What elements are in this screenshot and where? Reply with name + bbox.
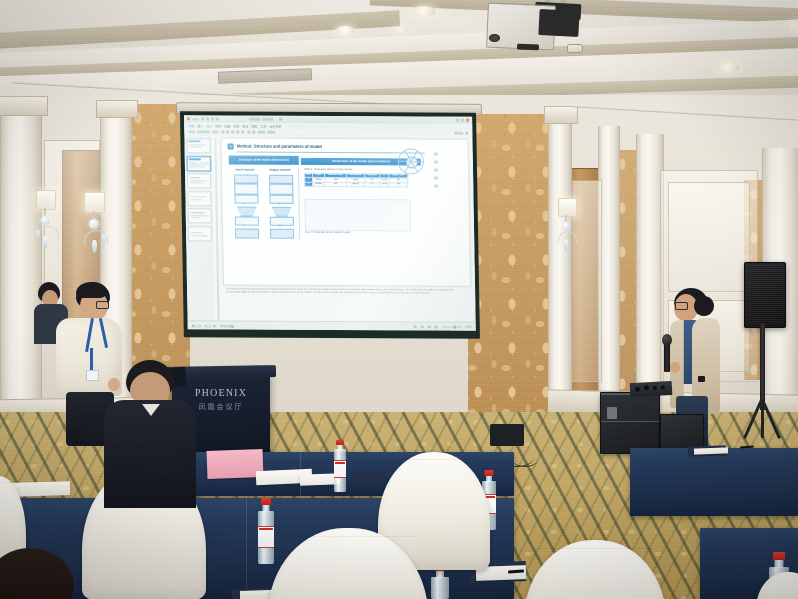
zoom-slider[interactable]: [442, 326, 462, 327]
case-latch: [607, 407, 617, 419]
pa-speaker: [744, 262, 786, 328]
wall-panel: [668, 182, 750, 292]
chair[interactable]: [268, 528, 428, 599]
sorter-view-icon[interactable]: [421, 325, 424, 328]
glasses-icon: [96, 301, 109, 309]
vertical-ruler: [214, 137, 219, 319]
presentation-app[interactable]: WPS 开始 插入 设计 切换: [184, 115, 476, 330]
text-color-icon[interactable]: [236, 131, 239, 134]
wall-sconce-center: [78, 192, 112, 292]
slide-thumbnail[interactable]: [187, 191, 211, 206]
flow-node: [234, 175, 258, 184]
slide-thumbnail[interactable]: [187, 173, 211, 188]
document-tab[interactable]: [262, 118, 273, 121]
radial-diagram: [398, 148, 424, 174]
wall-sconce-left: [34, 190, 66, 286]
wall-sconce-right: [554, 198, 584, 290]
table-cell: 1e-3: [380, 182, 389, 186]
ribbon-tab-8[interactable]: 工具: [260, 123, 266, 128]
align-icon[interactable]: [242, 131, 245, 134]
pilaster-capital: [544, 106, 578, 124]
redo-icon[interactable]: [211, 117, 214, 120]
slide-thumbnail-selected[interactable]: [187, 156, 211, 171]
flow-node: [234, 184, 258, 195]
ribbon-tab-9[interactable]: 会员专享: [269, 123, 281, 128]
flow-column-label-right: Output module: [264, 168, 296, 172]
downlight-icon: [336, 26, 355, 35]
numbering-icon[interactable]: [252, 131, 255, 134]
flow-arrow-icon: [278, 225, 282, 227]
flow-node: [269, 184, 293, 195]
underline-icon[interactable]: [231, 131, 234, 134]
reading-view-icon[interactable]: [428, 325, 431, 328]
downlight-icon: [786, 22, 798, 31]
ribbon-tab-0[interactable]: 开始: [188, 123, 194, 128]
app-menu-label[interactable]: WPS: [192, 117, 199, 121]
undo-icon[interactable]: [206, 117, 209, 120]
side-table-right: [630, 448, 798, 516]
figure-caption: Fig. 2. Schematic of the coupled model: [305, 231, 350, 234]
slide-counter: 第 3 页，共 21 页: [192, 323, 216, 328]
document-name-chip[interactable]: [249, 118, 260, 121]
wallpaper-damask: [468, 114, 554, 418]
cable-coil: [512, 452, 538, 467]
paper-sheet[interactable]: [694, 447, 728, 454]
font-size-select[interactable]: [213, 130, 219, 133]
table-row: 2 Dense 64 ReLU 0.1 1e-3 64: [305, 182, 408, 187]
flow-arrow-icon: [243, 225, 247, 227]
audio-flight-case: [600, 392, 660, 454]
close-icon[interactable]: [466, 119, 469, 122]
slide-editing-canvas[interactable]: 2 Method: Structure and parameters of mo…: [211, 135, 475, 322]
ribbon-tab-5[interactable]: 放映: [233, 123, 239, 128]
table-cell: Dense: [313, 182, 325, 186]
downlight-icon: [392, 26, 409, 34]
hair-bun: [694, 296, 714, 316]
slide-title: Method: Structure and parameters of mode…: [237, 144, 322, 149]
pilaster-capital: [0, 96, 48, 116]
slide-thumbnail[interactable]: [188, 226, 212, 241]
flow-node: [235, 229, 259, 239]
ribbon-tab-6[interactable]: 审阅: [242, 123, 248, 128]
ceiling-projector: [487, 0, 587, 56]
zoom-level[interactable]: 66%: [466, 325, 472, 329]
flow-node: [270, 229, 294, 239]
seated-attendee-front: [104, 360, 196, 508]
select-icon[interactable]: [465, 132, 468, 135]
minimize-icon[interactable]: [456, 119, 459, 122]
paste-button[interactable]: [188, 130, 195, 133]
chair[interactable]: [756, 572, 798, 599]
glasses-icon: [675, 302, 688, 310]
title-underline: [237, 152, 425, 154]
table-caption: Table 1. Parameter settings of the netwo…: [304, 168, 353, 171]
slideshow-view-icon[interactable]: [435, 325, 438, 328]
arrange-button[interactable]: [267, 131, 275, 134]
table-cell: 64: [389, 182, 408, 186]
normal-view-icon[interactable]: [414, 325, 417, 328]
language-indicator[interactable]: 中文(中国): [220, 323, 235, 328]
floor-monitor: [490, 424, 524, 446]
suit-jacket: [104, 400, 196, 508]
save-icon[interactable]: [201, 117, 204, 120]
audio-mixer: [630, 381, 673, 397]
flow-funnel: [272, 207, 292, 217]
flow-arrow-icon: [278, 203, 282, 205]
ribbon-tab-2[interactable]: 设计: [206, 123, 212, 128]
conference-room-photo: WPS 开始 插入 设计 切换: [0, 0, 798, 599]
slide-thumbnail[interactable]: [186, 138, 210, 153]
side-icon[interactable]: [434, 169, 438, 172]
maximize-icon[interactable]: [461, 119, 464, 122]
italic-icon[interactable]: [226, 130, 229, 133]
table-cell: ReLU: [347, 182, 365, 186]
ribbon-tab-1[interactable]: 插入: [197, 123, 203, 128]
bullets-icon[interactable]: [247, 131, 250, 134]
side-icon[interactable]: [434, 177, 438, 180]
side-icon[interactable]: [434, 153, 438, 156]
panel-divider: [298, 167, 300, 241]
downlight-icon: [412, 6, 436, 17]
projection-screen: WPS 开始 插入 设计 切换: [180, 111, 480, 345]
tripod-leg: [761, 400, 764, 438]
flow-arrow-icon: [243, 203, 247, 205]
flow-node: [269, 175, 293, 184]
side-icon[interactable]: [434, 161, 438, 164]
find-replace-button[interactable]: [454, 132, 463, 135]
speaker-stand-pole: [760, 324, 765, 410]
pilaster-capital: [96, 100, 138, 118]
watch: [698, 376, 705, 382]
foreground-attendee: [0, 548, 78, 599]
side-icon[interactable]: [434, 185, 438, 188]
flow-column-label-left: Input module: [229, 167, 261, 171]
figure-placeholder: [304, 199, 411, 232]
app-menu-icon[interactable]: [187, 117, 190, 120]
handheld-microphone[interactable]: [661, 334, 673, 374]
section-header-left: Structure of the model (framework): [229, 155, 299, 164]
ribbon-tab-3[interactable]: 切换: [215, 123, 221, 128]
table-cell: 0.1: [365, 182, 380, 186]
parameters-table: No. Layer Hidden units Activation Dropou…: [304, 173, 408, 187]
ribbon-tab-4[interactable]: 动画: [224, 123, 230, 128]
add-tab-icon[interactable]: [279, 118, 282, 121]
table-cell: 64: [325, 182, 347, 186]
chair[interactable]: [524, 540, 666, 599]
name-badge: [86, 370, 99, 381]
water-bottle[interactable]: [333, 440, 347, 492]
slide-section-badge: 2: [228, 143, 234, 149]
bold-icon[interactable]: [221, 130, 224, 133]
downlight-icon: [716, 62, 740, 73]
shapes-button[interactable]: [257, 131, 265, 134]
table-cell: 2: [305, 182, 313, 186]
lanyard: [90, 348, 93, 372]
status-bar: 第 3 页，共 21 页 中文(中国) 66%: [188, 320, 476, 331]
ribbon-tab-7[interactable]: 视图: [251, 123, 257, 128]
presenter-notes[interactable]: The model is driven by observed data and…: [226, 287, 458, 295]
print-icon[interactable]: [216, 117, 219, 120]
font-family-select[interactable]: [197, 130, 210, 133]
slide-thumbnail[interactable]: [188, 208, 212, 223]
flow-funnel: [237, 207, 257, 217]
